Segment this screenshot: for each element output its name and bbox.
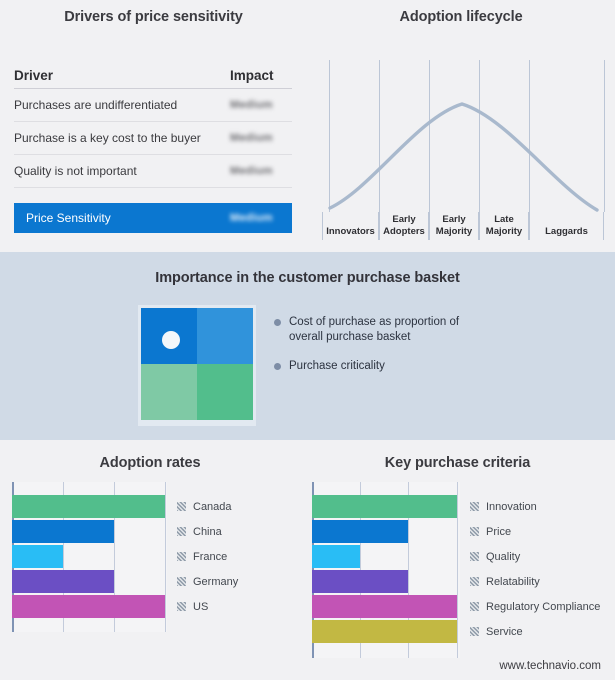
- column-header-driver: Driver: [14, 68, 230, 83]
- panel-drivers-of-price-sensitivity: Drivers of price sensitivity Driver Impa…: [0, 0, 307, 252]
- top-section: Drivers of price sensitivity Driver Impa…: [0, 0, 615, 252]
- legend-swatch-icon: [177, 602, 186, 611]
- cell-driver: Quality is not important: [14, 164, 230, 178]
- legend-label: Germany: [193, 576, 238, 588]
- bar-quality: [312, 545, 360, 568]
- bar-germany: [12, 570, 114, 593]
- lifecycle-curve-plot: [322, 60, 605, 212]
- cell-driver: Purchase is a key cost to the buyer: [14, 131, 230, 145]
- page-title-basket: Importance in the customer purchase bask…: [0, 270, 615, 286]
- infographic-root: Drivers of price sensitivity Driver Impa…: [0, 0, 615, 680]
- quadrant-bottom-right: [197, 364, 253, 420]
- bar-service: [312, 620, 457, 643]
- bar-china: [12, 520, 114, 543]
- bar-price: [312, 520, 408, 543]
- legend-swatch-icon: [470, 602, 479, 611]
- gridline: [457, 482, 458, 658]
- cell-impact: Medium: [230, 132, 292, 144]
- cell-driver: Purchases are undifferentiated: [14, 98, 230, 112]
- list-item: Cost of purchase as proportion of overal…: [274, 315, 574, 345]
- bullet-icon: [274, 319, 281, 326]
- lifecycle-stage-labels: Innovators Early Adopters Early Majority…: [322, 212, 605, 240]
- legend-item-us: US: [177, 595, 238, 618]
- legend-item-china: China: [177, 520, 238, 543]
- legend-label: Service: [486, 626, 523, 638]
- lifecycle-stage-early-majority: Early Majority: [429, 212, 479, 240]
- position-marker-dot: [162, 331, 180, 349]
- column-header-impact: Impact: [230, 68, 292, 83]
- legend-item-innovation: Innovation: [470, 495, 600, 518]
- legend-label: US: [193, 601, 208, 613]
- legend-swatch-icon: [470, 527, 479, 536]
- quadrant-matrix-inner: [141, 308, 253, 420]
- table-header-row: Driver Impact: [14, 62, 292, 89]
- bottom-section: Adoption rates Canada: [0, 440, 615, 680]
- bar-relatability: [312, 570, 408, 593]
- legend-label: France: [193, 551, 227, 563]
- panel-importance-purchase-basket: Importance in the customer purchase bask…: [0, 252, 615, 440]
- chart-adoption-rates: Canada China France Germany: [12, 482, 300, 632]
- footer-url: www.technavio.com: [499, 660, 601, 672]
- panel-key-purchase-criteria: Key purchase criteria: [300, 440, 615, 680]
- legend-swatch-icon: [177, 502, 186, 511]
- legend-label: Canada: [193, 501, 232, 513]
- legend-item-regulatory-compliance: Regulatory Compliance: [470, 595, 600, 618]
- legend-swatch-icon: [470, 577, 479, 586]
- gridline: [165, 482, 166, 632]
- legend-label: Price: [486, 526, 511, 538]
- legend-key-purchase-criteria: Innovation Price Quality Relatability: [470, 495, 600, 643]
- legend-item-service: Service: [470, 620, 600, 643]
- page-title-key-purchase-criteria: Key purchase criteria: [300, 455, 615, 471]
- bullet-icon: [274, 363, 281, 370]
- panel-adoption-rates: Adoption rates Canada: [0, 440, 300, 680]
- plot-area: [12, 482, 167, 632]
- legend-swatch-icon: [470, 627, 479, 636]
- page-title-drivers: Drivers of price sensitivity: [0, 9, 307, 25]
- legend-item-relatability: Relatability: [470, 570, 600, 593]
- quadrant-matrix: [138, 305, 256, 426]
- legend-label: China: [193, 526, 222, 538]
- bar-france: [12, 545, 63, 568]
- quadrant-top-right: [197, 308, 253, 364]
- legend-label: Cost of purchase as proportion of overal…: [289, 315, 489, 345]
- page-title-adoption-rates: Adoption rates: [0, 455, 300, 471]
- page-title-lifecycle: Adoption lifecycle: [307, 9, 615, 25]
- legend-item-france: France: [177, 545, 238, 568]
- lifecycle-stage-early-adopters: Early Adopters: [379, 212, 429, 240]
- table-row: Purchases are undifferentiated Medium: [14, 89, 292, 122]
- table-row: Quality is not important Medium: [14, 155, 292, 188]
- legend-label: Purchase criticality: [289, 359, 385, 374]
- legend-swatch-icon: [470, 552, 479, 561]
- drivers-table: Driver Impact Purchases are undifferenti…: [14, 62, 292, 188]
- legend-label: Relatability: [486, 576, 540, 588]
- legend-item-price: Price: [470, 520, 600, 543]
- basket-legend: Cost of purchase as proportion of overal…: [274, 315, 574, 388]
- plot-area: [312, 482, 460, 658]
- bell-curve-svg: [322, 60, 605, 212]
- quadrant-bottom-left: [141, 364, 197, 420]
- bar-innovation: [312, 495, 457, 518]
- bar-regulatory-compliance: [312, 595, 457, 618]
- legend-adoption-rates: Canada China France Germany: [177, 495, 238, 618]
- lifecycle-stage-innovators: Innovators: [322, 212, 379, 240]
- legend-item-germany: Germany: [177, 570, 238, 593]
- legend-label: Regulatory Compliance: [486, 601, 600, 613]
- legend-swatch-icon: [177, 552, 186, 561]
- cell-impact-highlighted: Medium: [230, 212, 292, 224]
- cell-impact: Medium: [230, 165, 292, 177]
- chart-key-purchase-criteria: Innovation Price Quality Relatability: [312, 482, 612, 658]
- legend-label: Quality: [486, 551, 520, 563]
- table-row: Purchase is a key cost to the buyer Medi…: [14, 122, 292, 155]
- cell-impact: Medium: [230, 99, 292, 111]
- table-row-highlighted-price-sensitivity: Price Sensitivity Medium: [14, 203, 292, 233]
- list-item: Purchase criticality: [274, 359, 574, 374]
- legend-swatch-icon: [470, 502, 479, 511]
- cell-driver-highlighted: Price Sensitivity: [14, 211, 230, 225]
- legend-label: Innovation: [486, 501, 537, 513]
- bar-canada: [12, 495, 165, 518]
- legend-swatch-icon: [177, 577, 186, 586]
- lifecycle-stage-late-majority: Late Majority: [479, 212, 529, 240]
- lifecycle-stage-laggards: Laggards: [529, 212, 604, 240]
- legend-item-quality: Quality: [470, 545, 600, 568]
- legend-swatch-icon: [177, 527, 186, 536]
- legend-item-canada: Canada: [177, 495, 238, 518]
- panel-adoption-lifecycle: Adoption lifecycle Innovators: [307, 0, 615, 252]
- bar-us: [12, 595, 165, 618]
